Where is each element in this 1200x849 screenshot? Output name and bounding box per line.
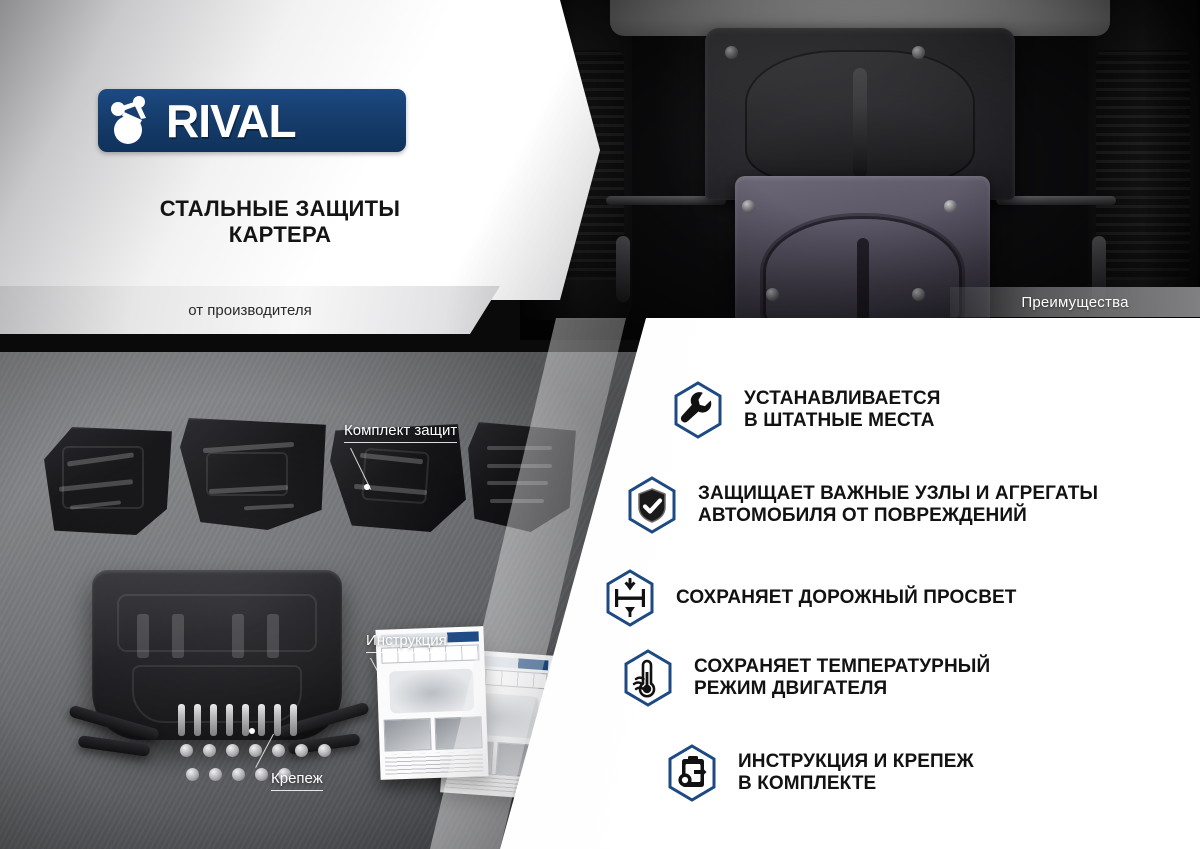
clipboard-hardware-icon — [662, 743, 722, 803]
advantage-item-clearance: СОХРАНЯЕТ ДОРОЖНЫЙ ПРОСВЕТ — [600, 568, 1017, 628]
brand-logo: RIVAL — [98, 89, 406, 152]
shield-check-icon — [622, 475, 682, 535]
advantages-ribbon-label: Преимущества — [1021, 294, 1128, 311]
callout-hardware-label: Крепеж — [271, 770, 323, 791]
advantage-line: СОХРАНЯЕТ ТЕМПЕРАТУРНЫЙ — [694, 656, 990, 678]
advantage-line: В КОМПЛЕКТЕ — [738, 773, 974, 795]
hero-subtitle-strip: от производителя — [0, 286, 540, 334]
advantage-text-clearance: СОХРАНЯЕТ ДОРОЖНЫЙ ПРОСВЕТ — [676, 587, 1017, 609]
hero-subtitle: от производителя — [188, 302, 311, 319]
advantage-text-protection: ЗАЩИЩАЕТ ВАЖНЫЕ УЗЛЫ И АГРЕГАТЫ АВТОМОБИ… — [698, 483, 1098, 528]
brand-wordmark: RIVAL — [166, 98, 296, 144]
advantage-item-protection: ЗАЩИЩАЕТ ВАЖНЫЕ УЗЛЫ И АГРЕГАТЫ АВТОМОБИ… — [622, 475, 1098, 535]
advantages-ribbon: Преимущества — [950, 287, 1200, 317]
ground-clearance-icon — [600, 568, 660, 628]
advantage-line: СОХРАНЯЕТ ДОРОЖНЫЙ ПРОСВЕТ — [676, 587, 1017, 609]
page-title: СТАЛЬНЫЕ ЗАЩИТЫ КАРТЕРА — [60, 196, 500, 247]
callout-instruction: Инструкция — [366, 632, 447, 653]
wrench-icon — [668, 380, 728, 440]
advantage-line: УСТАНАВЛИВАЕТСЯ — [744, 388, 941, 410]
poster-root: Преимущества — [0, 0, 1200, 849]
advantage-text-kit: ИНСТРУКЦИЯ И КРЕПЕЖ В КОМПЛЕКТЕ — [738, 751, 974, 796]
advantage-line: ИНСТРУКЦИЯ И КРЕПЕЖ — [738, 751, 974, 773]
page-title-line2: КАРТЕРА — [60, 222, 500, 248]
molecule-icon — [106, 92, 168, 150]
advantage-item-temperature: СОХРАНЯЕТ ТЕМПЕРАТУРНЫЙ РЕЖИМ ДВИГАТЕЛЯ — [618, 648, 990, 708]
callout-kit: Комплект защит — [344, 422, 457, 443]
advantage-line: ЗАЩИЩАЕТ ВАЖНЫЕ УЗЛЫ И АГРЕГАТЫ — [698, 483, 1098, 505]
advantage-line: РЕЖИМ ДВИГАТЕЛЯ — [694, 678, 990, 700]
advantage-text-installation: УСТАНАВЛИВАЕТСЯ В ШТАТНЫЕ МЕСТА — [744, 388, 941, 433]
advantage-line: АВТОМОБИЛЯ ОТ ПОВРЕЖДЕНИЙ — [698, 505, 1098, 527]
page-title-line1: СТАЛЬНЫЕ ЗАЩИТЫ — [60, 196, 500, 222]
advantage-item-kit: ИНСТРУКЦИЯ И КРЕПЕЖ В КОМПЛЕКТЕ — [662, 743, 974, 803]
thermometer-icon — [618, 648, 678, 708]
advantage-text-temperature: СОХРАНЯЕТ ТЕМПЕРАТУРНЫЙ РЕЖИМ ДВИГАТЕЛЯ — [694, 656, 990, 701]
callout-instruction-label: Инструкция — [366, 632, 447, 653]
callout-hardware: Крепеж — [271, 770, 323, 791]
advantage-item-installation: УСТАНАВЛИВАЕТСЯ В ШТАТНЫЕ МЕСТА — [668, 380, 941, 440]
callout-kit-label: Комплект защит — [344, 422, 457, 443]
advantage-line: В ШТАТНЫЕ МЕСТА — [744, 410, 941, 432]
